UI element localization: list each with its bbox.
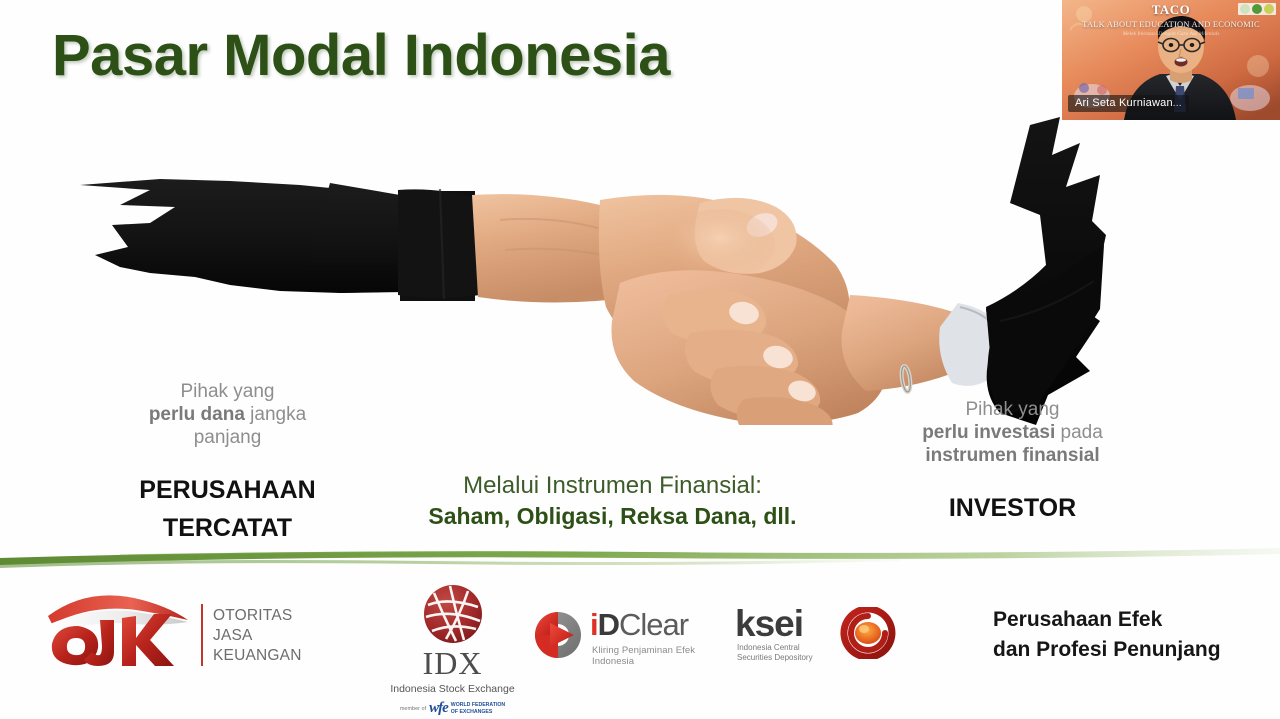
center-line-2: Saham, Obligasi, Reksa Dana, dll. (365, 501, 860, 532)
video-program-subtagline: Melek Investasi Dengan Cara Ala Milenial… (1062, 31, 1280, 37)
video-sponsor-badges (1238, 3, 1276, 15)
page-title: Pasar Modal Indonesia (52, 22, 670, 89)
handshake-illustration (0, 95, 1160, 425)
ojk-name: OTORITAS JASA KEUANGAN (213, 606, 302, 666)
idclear-name-d: D (598, 607, 619, 642)
footer-right-line-1: Perusahaan Efek (993, 605, 1221, 635)
ksei-logo: ksei Indonesia Central Securities Deposi… (735, 605, 910, 667)
center-instrument-block: Melalui Instrumen Finansial: Saham, Obli… (365, 470, 860, 532)
idx-wfe-member: member of wfe WORLD FEDERATION OF EXCHAN… (390, 700, 515, 717)
idclear-name: iDClear (590, 607, 688, 643)
wfe-name: WORLD FEDERATION OF EXCHANGES (451, 702, 505, 714)
left-line-3: panjang (85, 426, 370, 449)
video-program-tagline: TALK ABOUT EDUCATION AND ECONOMIC (1062, 19, 1280, 29)
idx-sphere-icon (422, 583, 484, 645)
left-line-2-bold: perlu dana (149, 404, 245, 425)
left-line-1: Pihak yang (85, 380, 370, 403)
ksei-subtitle: Indonesia Central Securities Depository (737, 643, 813, 662)
left-line-2: perlu dana jangka (85, 403, 370, 426)
center-line-1: Melalui Instrumen Finansial: (365, 470, 860, 501)
right-line-2-rest: pada (1055, 422, 1103, 443)
ksei-name: ksei (735, 605, 803, 642)
wfe-name-line-2: OF EXCHANGES (451, 709, 505, 715)
right-line-1: Pihak yang (870, 398, 1155, 421)
idclear-name-i: i (590, 607, 598, 642)
sponsor-badge-1-icon (1240, 4, 1250, 14)
footer-right-line-2: dan Profesi Penunjang (993, 635, 1221, 665)
left-label-line-1: PERUSAHAAN (85, 471, 370, 509)
right-line-3-bold: instrumen finansial (925, 445, 1099, 466)
right-line-2: perlu investasi pada (870, 421, 1155, 444)
ojk-name-line-3: KEUANGAN (213, 646, 302, 666)
green-brush-divider (0, 538, 1280, 574)
wfe-name-line-1: WORLD FEDERATION (451, 702, 505, 708)
idclear-logo: iDClear Kliring Penjaminan Efek Indonesi… (530, 607, 725, 667)
right-party-block: Pihak yang perlu investasi pada instrume… (870, 398, 1155, 527)
video-speaker-name-ellipsis: ... (1173, 98, 1182, 109)
ksei-subtitle-line-2: Securities Depository (737, 653, 813, 663)
slide-canvas: Pasar Modal Indonesia (0, 0, 1280, 719)
left-line-2-rest: jangka (245, 404, 306, 425)
sponsor-badge-3-icon (1264, 4, 1274, 14)
footer-logo-bar: OTORITAS JASA KEUANGAN (0, 575, 1280, 719)
ksei-spiral-icon (835, 607, 901, 659)
right-line-3: instrumen finansial (870, 444, 1155, 467)
idclear-name-clear: Clear (619, 607, 688, 642)
idclear-subtitle: Kliring Penjaminan Efek Indonesia (592, 645, 725, 667)
right-label-line-1: INVESTOR (870, 489, 1155, 527)
ojk-mark-icon (38, 590, 208, 670)
video-speaker-name-label: Ari Seta Kurniawan... (1068, 95, 1189, 112)
left-party-block: Pihak yang perlu dana jangka panjang PER… (85, 380, 370, 547)
footer-right-text: Perusahaan Efek dan Profesi Penunjang (993, 605, 1221, 665)
ojk-logo: OTORITAS JASA KEUANGAN (38, 590, 308, 670)
sponsor-badge-2-icon (1252, 4, 1262, 14)
ojk-name-line-1: OTORITAS (213, 606, 302, 626)
idx-member-of-label: member of (400, 706, 426, 712)
idx-logo: IDX Indonesia Stock Exchange member of w… (390, 583, 515, 708)
wfe-mark-icon: wfe (429, 700, 448, 717)
idx-acronym: IDX (390, 645, 515, 682)
idx-subtitle: Indonesia Stock Exchange (390, 683, 515, 695)
ojk-divider-line (201, 604, 203, 666)
video-speaker-name: Ari Seta Kurniawan (1075, 97, 1173, 109)
ksei-subtitle-line-1: Indonesia Central (737, 643, 813, 653)
right-line-2-bold: perlu investasi (922, 422, 1055, 443)
idclear-mark-icon (530, 609, 586, 661)
video-overlay-panel[interactable]: TACO TALK ABOUT EDUCATION AND ECONOMIC M… (1062, 0, 1280, 120)
ojk-name-line-2: JASA (213, 626, 302, 646)
